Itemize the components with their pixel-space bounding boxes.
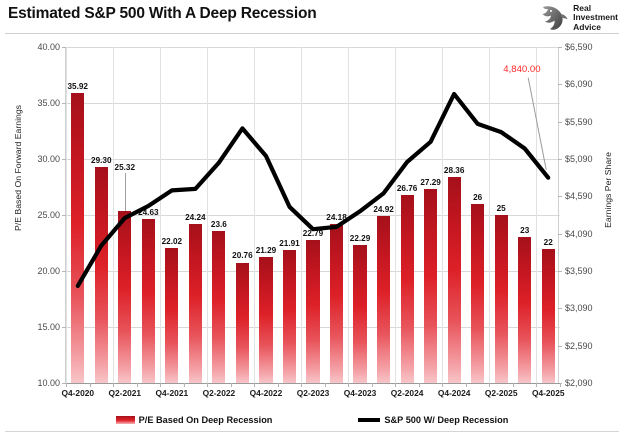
- x-axis-tickmark: [466, 383, 467, 387]
- y-axis-right-tick-label: $6,590: [565, 42, 593, 52]
- x-axis-tick-label: Q4-2025: [532, 388, 565, 398]
- x-axis-tickmark: [231, 383, 232, 387]
- x-axis-tickmark: [254, 383, 255, 387]
- x-axis-tickmark: [348, 383, 349, 387]
- x-axis-tick-label: Q2-2024: [391, 388, 424, 398]
- y-axis-left-tick-label: 20.00: [37, 266, 60, 276]
- x-axis-tick-label: Q4-2023: [344, 388, 377, 398]
- y-axis-right-tick-label: $5,090: [565, 154, 593, 164]
- y-axis-right-tick-label: $4,090: [565, 229, 593, 239]
- x-axis-tick-label: Q2-2023: [297, 388, 330, 398]
- legend-item-line[interactable]: S&P 500 W/ Deep Recession: [358, 415, 508, 425]
- x-axis-tick-label: Q4-2020: [61, 388, 94, 398]
- y-axis-left-tick-label: 10.00: [37, 378, 60, 388]
- y-axis-left-tick-label: 15.00: [37, 322, 60, 332]
- x-axis-tickmark: [419, 383, 420, 387]
- x-axis-tickmark: [278, 383, 279, 387]
- x-axis-tickmark: [489, 383, 490, 387]
- y-axis-right-tick-label: $3,590: [565, 266, 593, 276]
- brand-logo: Real Investment Advice: [539, 3, 618, 33]
- x-axis-tick-label: Q4-2022: [250, 388, 283, 398]
- x-axis-tickmark: [160, 383, 161, 387]
- x-axis-baseline: [66, 383, 560, 384]
- y-axis-right-tick-label: $2,090: [565, 378, 593, 388]
- footer-divider: [5, 431, 619, 432]
- legend-swatch-line-icon: [358, 418, 380, 422]
- sp500-line: [78, 94, 548, 286]
- x-axis-tickmark: [372, 383, 373, 387]
- x-axis-tick-label: Q4-2021: [156, 388, 189, 398]
- x-axis-tick-label: Q2-2022: [203, 388, 236, 398]
- x-axis-tickmark: [442, 383, 443, 387]
- y-axis-right-title: Earnings Per Share: [603, 152, 613, 228]
- legend-item-bars[interactable]: P/E Based On Deep Recession: [116, 415, 273, 425]
- line-series: [66, 47, 560, 383]
- x-axis-tickmark: [90, 383, 91, 387]
- x-axis-tick-label: Q2-2025: [485, 388, 518, 398]
- x-axis-tickmark: [207, 383, 208, 387]
- x-axis-tickmark: [395, 383, 396, 387]
- annotation-label: 4,840.00: [503, 64, 540, 75]
- y-axis-right-tick-label: $5,590: [565, 117, 593, 127]
- plot-area: 40.0035.0030.0025.0020.0015.0010.00 $6,5…: [65, 47, 559, 383]
- x-axis-tickmark: [513, 383, 514, 387]
- x-axis-tickmark: [66, 383, 67, 387]
- legend-label-bars: P/E Based On Deep Recession: [139, 415, 273, 425]
- x-axis-tickmark: [536, 383, 537, 387]
- x-axis-tickmark: [301, 383, 302, 387]
- x-axis-tickmark: [325, 383, 326, 387]
- x-axis-tickmark: [184, 383, 185, 387]
- brand-line-3: Advice: [573, 23, 618, 32]
- x-axis-tickmark: [560, 383, 561, 387]
- x-axis-tick-label: Q2-2021: [109, 388, 142, 398]
- header-divider: [5, 33, 619, 34]
- y-axis-right-tick-label: $6,090: [565, 79, 593, 89]
- y-axis-right-tick-label: $2,590: [565, 341, 593, 351]
- chart-header: Estimated S&P 500 With A Deep Recession …: [0, 0, 624, 36]
- eagle-head-icon: [539, 4, 569, 32]
- chart-page: Estimated S&P 500 With A Deep Recession …: [0, 0, 624, 439]
- y-axis-left-tick-label: 30.00: [37, 154, 60, 164]
- page-title: Estimated S&P 500 With A Deep Recession: [8, 5, 316, 23]
- y-axis-right-tick-label: $3,090: [565, 303, 593, 313]
- y-axis-left-tick-label: 25.00: [37, 210, 60, 220]
- y-axis-right-tick-label: $4,590: [565, 191, 593, 201]
- y-axis-left-title: P/E Based On Forward Earnings: [13, 105, 23, 231]
- y-axis-left-tick-label: 40.00: [37, 42, 60, 52]
- x-axis-tickmark: [137, 383, 138, 387]
- legend-swatch-bar-icon: [116, 416, 135, 424]
- chart-legend: P/E Based On Deep Recession S&P 500 W/ D…: [0, 410, 624, 430]
- brand-name: Real Investment Advice: [573, 4, 618, 32]
- legend-label-line: S&P 500 W/ Deep Recession: [384, 415, 508, 425]
- y-axis-left-tick-label: 35.00: [37, 98, 60, 108]
- x-axis-tickmark: [113, 383, 114, 387]
- x-axis-tick-label: Q4-2024: [438, 388, 471, 398]
